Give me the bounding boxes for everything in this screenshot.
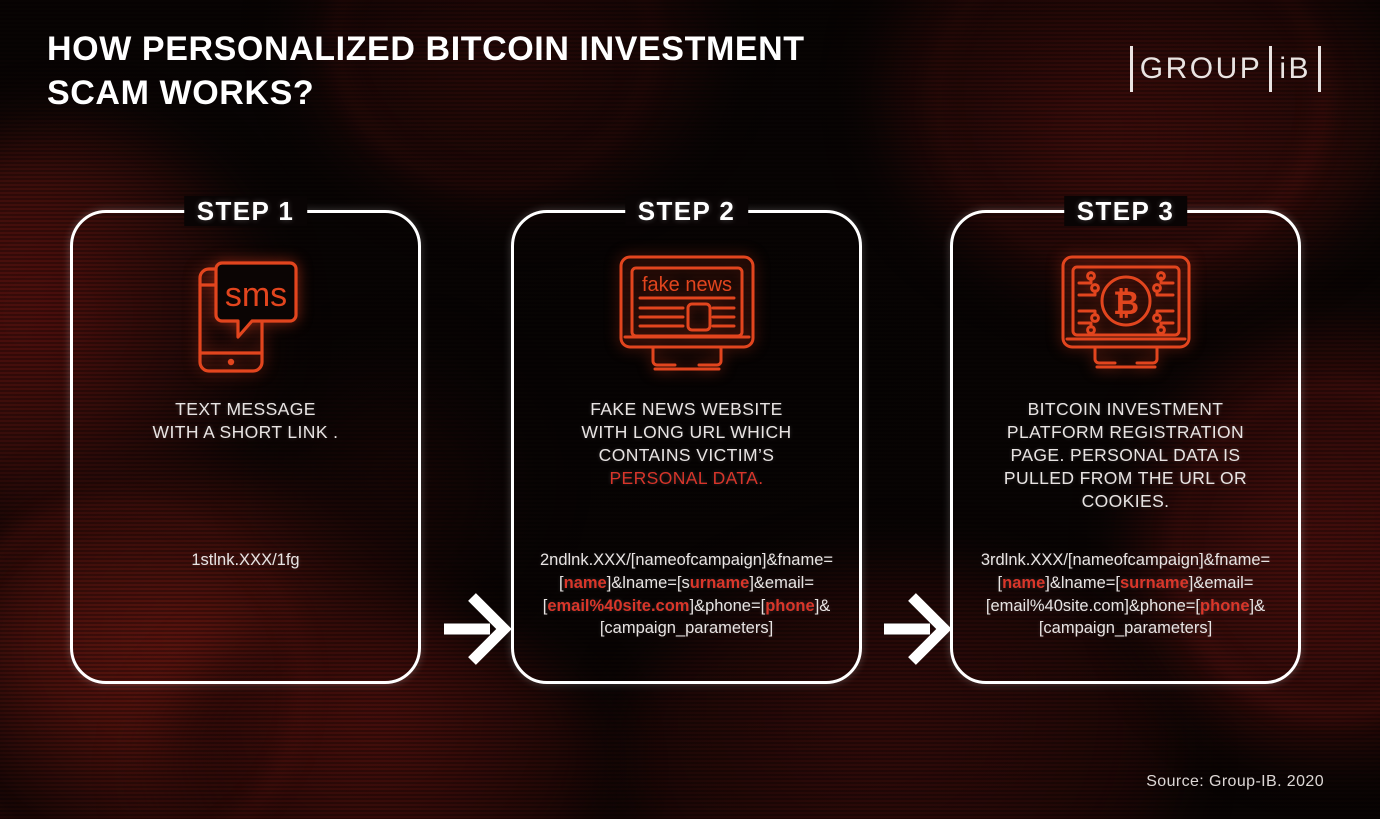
source-credit: Source: Group-IB. 2020 <box>1146 773 1324 791</box>
logo-word-group: GROUP <box>1140 54 1263 84</box>
step-1-description: TEXT MESSAGE WITH A SHORT LINK . <box>153 398 339 444</box>
url-segment: ]&lname=[s <box>607 574 690 592</box>
step-card-2: STEP 2 <box>511 210 862 684</box>
url-parameter-value: surname <box>1120 574 1189 592</box>
step-2-description-line-3: CONTAINS VICTIM’S <box>581 444 791 467</box>
step-2-description: FAKE NEWS WEBSITE WITH LONG URL WHICH CO… <box>581 398 791 490</box>
arrow-step2-to-step3 <box>884 589 952 674</box>
url-parameter-value: name <box>1002 574 1045 592</box>
step-1-url: 1stlnk.XXX/1fg <box>87 549 404 572</box>
step-card-1: STEP 1 sms <box>70 210 421 684</box>
arrow-step1-to-step2 <box>444 589 512 674</box>
logo-bar-middle <box>1269 46 1272 92</box>
step-2-description-highlight: PERSONAL DATA. <box>581 467 791 490</box>
logo-bar-right <box>1318 46 1321 92</box>
logo-bar-left <box>1130 46 1133 92</box>
step-3-description-line-1: BITCOIN INVESTMENT <box>1004 398 1247 421</box>
sms-icon-text: sms <box>224 276 286 314</box>
fake-news-icon-text: fake news <box>641 274 731 296</box>
step-2-description-line-1: FAKE NEWS WEBSITE <box>581 398 791 421</box>
sms-phone-icon: sms <box>192 251 300 377</box>
step-3-description-line-4: PULLED FROM THE URL OR <box>1004 467 1247 490</box>
step-3-description-line-5: COOKIES. <box>1004 490 1247 513</box>
url-segment: ]&phone=[ <box>689 597 765 615</box>
step-2-description-line-2: WITH LONG URL WHICH <box>581 421 791 444</box>
url-parameter-value: email%40site.com <box>547 597 689 615</box>
step-2-url: 2ndlnk.XXX/[nameofcampaign]&fname=[name]… <box>528 549 845 640</box>
url-parameter-value: name <box>564 574 607 592</box>
step-3-url: 3rdlnk.XXX/[nameofcampaign]&fname=[name]… <box>967 549 1284 640</box>
page-title-line-1: HOW PERSONALIZED BITCOIN INVESTMENT <box>47 30 805 68</box>
steps-row: STEP 1 sms <box>0 196 1380 696</box>
bitcoin-monitor-icon: ₿ <box>1059 251 1193 377</box>
step-card-3: STEP 3 <box>950 210 1301 684</box>
step-3-description: BITCOIN INVESTMENT PLATFORM REGISTRATION… <box>1004 398 1247 513</box>
url-parameter-value: urname <box>690 574 750 592</box>
infographic-canvas: HOW PERSONALIZED BITCOIN INVESTMENT SCAM… <box>0 0 1380 819</box>
bitcoin-symbol: ₿ <box>1112 285 1138 321</box>
url-segment: 1stlnk.XXX/1fg <box>191 551 299 569</box>
page-title: HOW PERSONALIZED BITCOIN INVESTMENT SCAM… <box>47 28 947 115</box>
step-1-description-line-2: WITH A SHORT LINK . <box>153 421 339 444</box>
step-3-description-line-2: PLATFORM REGISTRATION <box>1004 421 1247 444</box>
fake-news-monitor-icon: fake news <box>617 251 757 377</box>
step-3-description-line-3: PAGE. PERSONAL DATA IS <box>1004 444 1247 467</box>
page-title-line-2: SCAM WORKS? <box>47 72 947 116</box>
url-parameter-value: phone <box>1200 597 1250 615</box>
url-segment: ]&lname=[ <box>1045 574 1120 592</box>
group-ib-logo: GROUP iB <box>1123 46 1328 92</box>
url-parameter-value: phone <box>765 597 815 615</box>
logo-word-ib: iB <box>1279 54 1311 84</box>
step-1-description-line-1: TEXT MESSAGE <box>153 398 339 421</box>
